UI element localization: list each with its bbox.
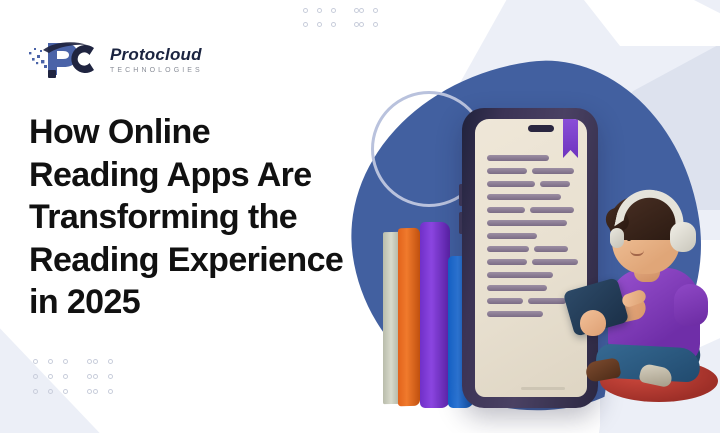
reading-text-line xyxy=(487,181,535,187)
hero-illustration xyxy=(0,0,720,433)
reading-text-row xyxy=(487,155,579,161)
headphone-earcup-right xyxy=(670,222,696,252)
reading-text-line xyxy=(532,168,574,174)
shirt-sleeve xyxy=(674,284,708,326)
reading-text-line xyxy=(487,272,553,278)
phone-volume-down-button xyxy=(459,212,462,234)
reading-text-line xyxy=(487,168,527,174)
hand-holding-tablet xyxy=(580,310,606,336)
reading-text-line xyxy=(487,220,567,226)
headphone-earcup-left xyxy=(610,228,624,248)
book-orange xyxy=(398,228,420,407)
reading-text-row xyxy=(487,246,579,252)
blog-banner: Protocloud TECHNOLOGIES How OnlineReadin… xyxy=(0,0,720,433)
bookmark-ribbon-icon xyxy=(563,119,578,158)
reading-text-line xyxy=(487,233,537,239)
reading-text-row xyxy=(487,168,579,174)
reading-text-row xyxy=(487,194,579,200)
phone-notch-icon xyxy=(528,125,554,132)
reading-text-row xyxy=(487,181,579,187)
reading-text-line xyxy=(487,311,543,317)
phone-screen xyxy=(475,119,587,397)
reading-text-row xyxy=(487,311,579,317)
reading-text-line xyxy=(540,181,570,187)
reading-text-line xyxy=(487,207,525,213)
phone-volume-up-button xyxy=(459,184,462,206)
reading-text-line xyxy=(487,194,561,200)
reading-text-row xyxy=(487,272,579,278)
reading-text-row xyxy=(487,285,579,291)
reading-text-line xyxy=(487,246,529,252)
reading-text-line xyxy=(487,259,527,265)
reading-text-row xyxy=(487,233,579,239)
reading-text-line xyxy=(487,298,523,304)
reading-text-line xyxy=(487,155,549,161)
seated-reader-character xyxy=(578,188,720,410)
reading-text-row xyxy=(487,207,579,213)
reading-text-line xyxy=(532,259,578,265)
phone-home-indicator xyxy=(521,387,565,390)
reading-text-row xyxy=(487,220,579,226)
reading-text-line xyxy=(487,285,547,291)
reading-text-line xyxy=(530,207,574,213)
reading-text-row xyxy=(487,259,579,265)
reading-text-line xyxy=(534,246,568,252)
book-purple xyxy=(420,222,450,408)
reading-text-line xyxy=(528,298,566,304)
